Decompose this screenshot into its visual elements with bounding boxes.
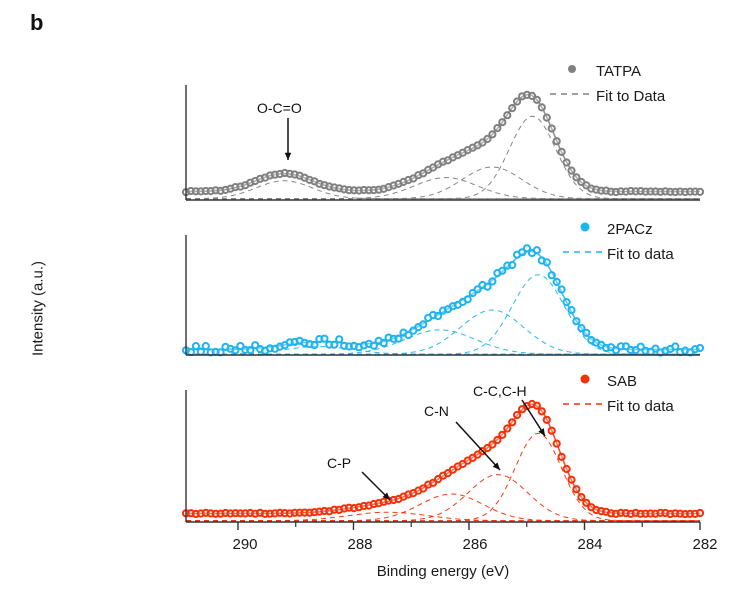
data-point [568,307,574,313]
arrow-o-c-o-head [285,153,292,160]
data-point [539,104,545,110]
data-point [549,428,555,434]
data-point [420,321,426,327]
data-point [544,115,550,121]
data-point [504,112,510,118]
annotation-c-p: C-P [327,455,351,471]
data-point [549,272,555,278]
data-point [509,105,515,111]
data-point [484,284,490,290]
data-point [573,318,579,324]
data-point [514,98,520,104]
annotation-o-c-o: O-C=O [257,100,302,116]
data-point [499,119,505,125]
data-point [559,454,565,460]
data-point [554,279,560,285]
data-point [435,313,441,319]
data-point [578,494,584,500]
data-point [381,340,387,346]
data-point [554,138,560,144]
data-point [499,268,505,274]
data-point [489,278,495,284]
legend-series-tatpa: TATPA [596,63,641,80]
xps-figure: b Intensity (a.u.) Binding energy (eV) 2… [0,0,730,607]
annotation-c-n: C-N [424,403,449,419]
data-point [395,336,401,342]
legend-marker-dot [581,375,590,384]
data-point [554,441,560,447]
data-point [549,125,555,131]
fit-component-c-c-c-h [186,116,700,199]
legend-series-sab: SAB [607,373,637,390]
data-point [559,286,565,292]
data-point [534,403,540,409]
x-tick-label-3: 284 [560,536,620,553]
data-point [504,425,510,431]
data-point [568,477,574,483]
arrow-c-c-c-h-head [538,428,545,436]
data-point [697,345,703,351]
legend-series-pacz: 2PACz [607,221,653,238]
data-point [188,349,194,355]
data-point [509,419,515,425]
data-point [583,330,589,336]
data-point [534,247,540,253]
data-point [465,296,471,302]
legend-fit-pacz: Fit to data [607,246,674,263]
data-point [544,417,550,423]
data-point [672,343,678,349]
data-point [539,408,545,414]
legend-fit-sab: Fit to data [607,398,674,415]
data-point [564,159,570,165]
data-point [573,486,579,492]
data-point [559,149,565,155]
data-point [534,97,540,103]
x-tick-label-0: 290 [215,536,275,553]
data-point [494,125,500,131]
data-point [564,466,570,472]
data-point [509,262,515,268]
x-tick-label-2: 286 [445,536,505,553]
data-point [193,343,199,349]
data-point [331,342,337,348]
data-point [514,412,520,418]
annotation-c-c-c-h: C-C,C-H [473,383,527,399]
legend-marker-dot [568,65,576,73]
data-point [697,510,703,516]
data-point [198,349,204,355]
data-point [499,432,505,438]
data-point [568,168,574,174]
data-point [336,336,342,342]
x-tick-label-4: 282 [675,536,730,553]
x-tick-label-1: 288 [330,536,390,553]
data-point [544,259,550,265]
data-point [489,131,495,137]
data-point [564,299,570,305]
fit-envelope [186,252,700,350]
data-point [321,336,327,342]
data-point [203,343,209,349]
legend-marker-dot [581,223,590,232]
data-point [697,189,703,195]
data-point [311,342,317,348]
legend-fit-tatpa: Fit to Data [596,88,665,105]
fit-envelope [186,404,700,513]
